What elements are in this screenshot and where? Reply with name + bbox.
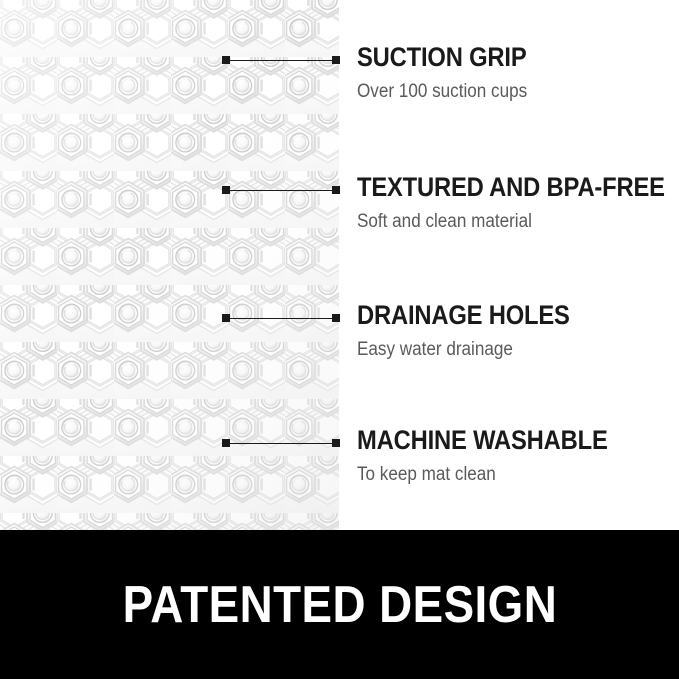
leader-dot-end bbox=[332, 186, 340, 194]
bath-mat-texture-graphic bbox=[0, 0, 339, 530]
leader-rule bbox=[226, 318, 336, 319]
feature-callout-drainage-holes: DRAINAGE HOLES Easy water drainage bbox=[357, 302, 672, 359]
bottom-banner: PATENTED DESIGN bbox=[0, 530, 679, 679]
leader-rule bbox=[226, 443, 336, 444]
leader-line-2 bbox=[222, 186, 340, 195]
product-image-bath-mat bbox=[0, 0, 339, 530]
feature-subtitle: Easy water drainage bbox=[357, 340, 641, 359]
feature-title: TEXTURED AND BPA-FREE bbox=[357, 174, 634, 201]
leader-line-1 bbox=[222, 56, 340, 65]
leader-dot-end bbox=[332, 314, 340, 322]
feature-callout-textured-bpa-free: TEXTURED AND BPA-FREE Soft and clean mat… bbox=[357, 174, 672, 231]
feature-subtitle: Over 100 suction cups bbox=[357, 82, 641, 101]
leader-dot-end bbox=[332, 439, 340, 447]
feature-subtitle: To keep mat clean bbox=[357, 465, 641, 484]
leader-rule bbox=[226, 60, 336, 61]
leader-dot-end bbox=[332, 56, 340, 64]
feature-title: SUCTION GRIP bbox=[357, 44, 634, 71]
leader-rule bbox=[226, 190, 336, 191]
feature-callout-suction-grip: SUCTION GRIP Over 100 suction cups bbox=[357, 44, 672, 101]
leader-line-4 bbox=[222, 439, 340, 448]
banner-title: PATENTED DESIGN bbox=[122, 579, 557, 631]
product-infographic: SUCTION GRIP Over 100 suction cups TEXTU… bbox=[0, 0, 679, 679]
feature-callout-machine-washable: MACHINE WASHABLE To keep mat clean bbox=[357, 427, 672, 484]
leader-line-3 bbox=[222, 314, 340, 323]
feature-title: DRAINAGE HOLES bbox=[357, 302, 634, 329]
feature-subtitle: Soft and clean material bbox=[357, 212, 641, 231]
feature-title: MACHINE WASHABLE bbox=[357, 427, 634, 454]
